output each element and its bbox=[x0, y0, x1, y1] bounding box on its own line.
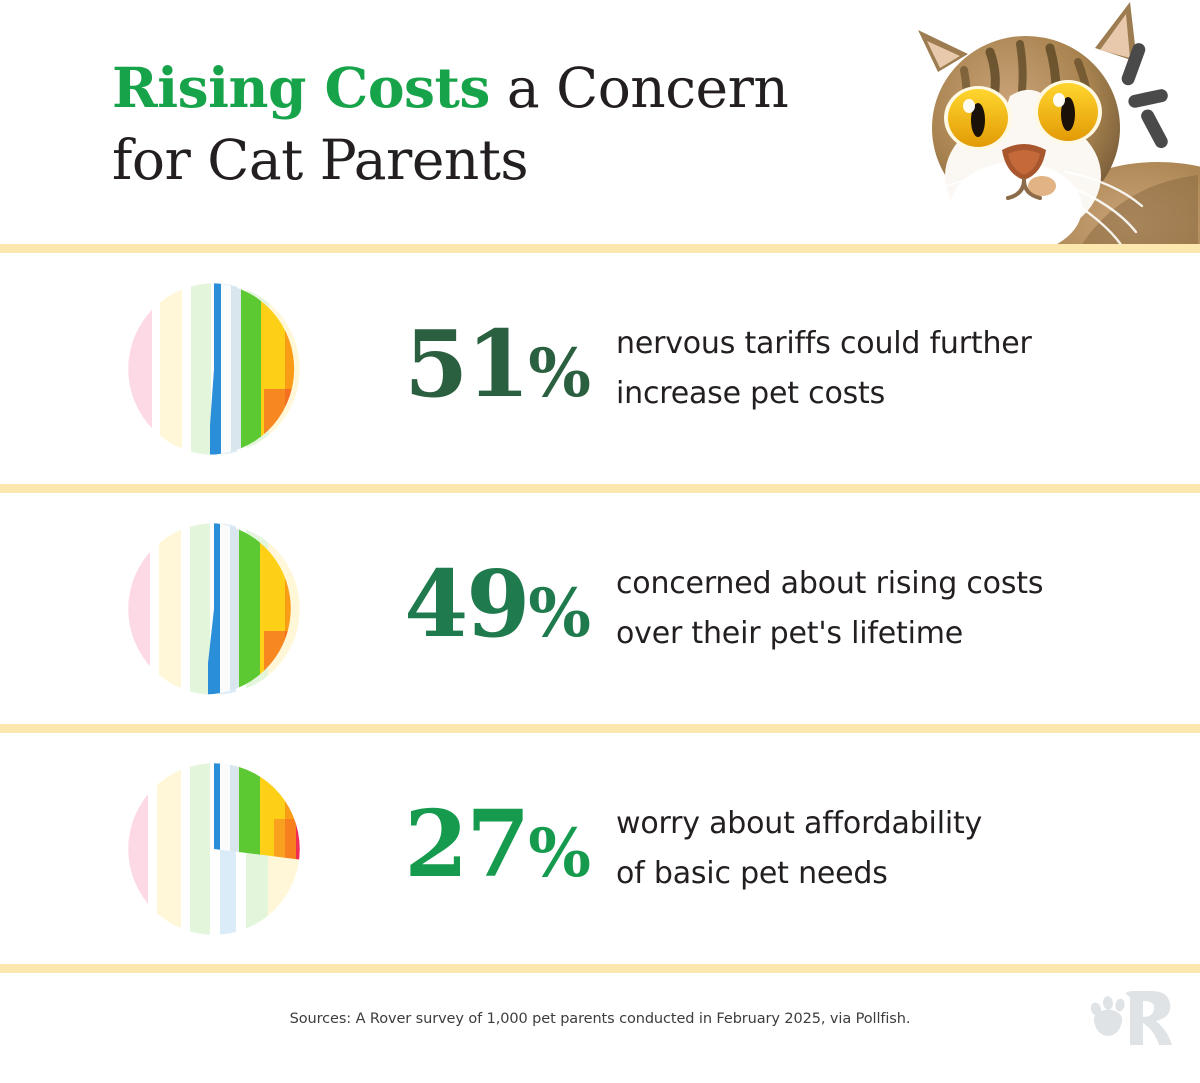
stat-description-line-1: worry about affordability bbox=[616, 799, 1130, 849]
percent-symbol: % bbox=[528, 574, 590, 652]
stat-description-line-2: over their pet's lifetime bbox=[616, 609, 1130, 659]
stat-number: 27 bbox=[404, 790, 528, 898]
cat-photo bbox=[890, 0, 1200, 247]
stat-description-line-2: increase pet costs bbox=[616, 369, 1130, 419]
stat-description: nervous tariffs could further increase p… bbox=[616, 319, 1200, 419]
header: Rising Costs a Concern for Cat Parents bbox=[0, 0, 1200, 247]
footer: Sources: A Rover survey of 1,000 pet par… bbox=[0, 973, 1200, 1083]
stat-description-line-1: nervous tariffs could further bbox=[616, 319, 1130, 369]
stat-description: concerned about rising costs over their … bbox=[616, 559, 1200, 659]
stat-row: 49% concerned about rising costs over th… bbox=[0, 493, 1200, 724]
surprised-cat-illustration bbox=[890, 0, 1200, 247]
stat-description-line-2: of basic pet needs bbox=[616, 849, 1130, 899]
stat-percent-value: 49% bbox=[352, 558, 590, 659]
source-note: Sources: A Rover survey of 1,000 pet par… bbox=[0, 1011, 1200, 1027]
stat-number: 51 bbox=[404, 310, 528, 418]
pie-chart-51 bbox=[124, 279, 304, 459]
divider-1 bbox=[0, 244, 1200, 253]
stat-percent-value: 51% bbox=[352, 318, 590, 419]
stat-description-line-1: concerned about rising costs bbox=[616, 559, 1130, 609]
title-line-2: for Cat Parents bbox=[112, 124, 912, 196]
stat-description: worry about affordability of basic pet n… bbox=[616, 799, 1200, 899]
divider-4 bbox=[0, 964, 1200, 973]
rover-logo bbox=[1082, 985, 1178, 1053]
percent-symbol: % bbox=[528, 334, 590, 412]
infographic-page: Rising Costs a Concern for Cat Parents bbox=[0, 0, 1200, 1083]
page-title: Rising Costs a Concern for Cat Parents bbox=[112, 52, 912, 196]
divider-2 bbox=[0, 484, 1200, 493]
percent-symbol: % bbox=[528, 814, 590, 892]
pie-chart-27 bbox=[124, 759, 304, 939]
divider-3 bbox=[0, 724, 1200, 733]
title-line-1: Rising Costs a Concern bbox=[112, 52, 912, 124]
title-rest: a Concern bbox=[490, 56, 788, 120]
stat-percent-value: 27% bbox=[352, 798, 590, 899]
stat-row: 27% worry about affordability of basic p… bbox=[0, 733, 1200, 964]
stat-row: 51% nervous tariffs could further increa… bbox=[0, 253, 1200, 484]
title-emphasis: Rising Costs bbox=[112, 55, 490, 120]
pie-chart-49 bbox=[124, 519, 304, 699]
stat-number: 49 bbox=[404, 550, 528, 658]
